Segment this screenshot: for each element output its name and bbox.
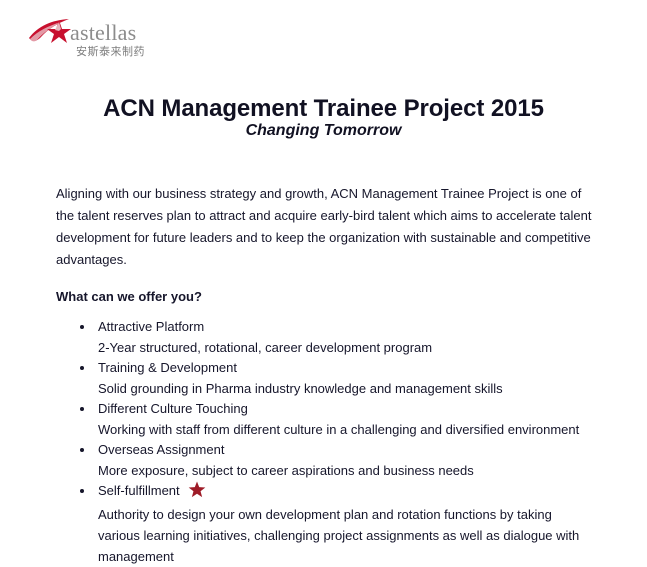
list-item: Different Culture Touching Working with …	[56, 399, 593, 440]
astellas-logo: astellas 安斯泰来制药	[28, 16, 168, 66]
astellas-chinese-name: 安斯泰来制药	[76, 46, 145, 57]
bullet-dot-icon	[80, 489, 84, 493]
offer-list: Attractive Platform 2-Year structured, r…	[56, 317, 593, 567]
offer-description: Authority to design your own development…	[98, 504, 593, 567]
astellas-swoosh-star-icon	[28, 18, 74, 46]
list-item: Training & Development Solid grounding i…	[56, 358, 593, 399]
list-item: Self-fulfillment Authority to design you…	[56, 481, 593, 567]
list-item: Attractive Platform 2-Year structured, r…	[56, 317, 593, 358]
offer-description: Working with staff from different cultur…	[98, 419, 593, 440]
page-subtitle: Changing Tomorrow	[0, 122, 647, 140]
bullet-dot-icon	[80, 448, 84, 452]
bullet-dot-icon	[80, 366, 84, 370]
document-body: Aligning with our business strategy and …	[56, 183, 593, 567]
offer-description: More exposure, subject to career aspirat…	[98, 460, 593, 481]
offer-description: 2-Year structured, rotational, career de…	[98, 337, 593, 358]
offer-heading: Different Culture Touching	[98, 399, 593, 419]
intro-paragraph: Aligning with our business strategy and …	[56, 183, 593, 271]
list-item: Overseas Assignment More exposure, subje…	[56, 440, 593, 481]
offer-heading-row: Self-fulfillment	[98, 481, 593, 504]
offer-heading: Attractive Platform	[98, 317, 593, 337]
bullet-dot-icon	[80, 407, 84, 411]
offer-heading: Overseas Assignment	[98, 440, 593, 460]
bullet-dot-icon	[80, 325, 84, 329]
page-title: ACN Management Trainee Project 2015	[0, 95, 647, 123]
offer-question-heading: What can we offer you?	[56, 286, 593, 308]
offer-heading: Training & Development	[98, 358, 593, 378]
red-star-icon	[188, 481, 206, 504]
offer-heading: Self-fulfillment	[98, 483, 180, 498]
offer-description: Solid grounding in Pharma industry knowl…	[98, 378, 593, 399]
astellas-wordmark: astellas	[70, 22, 136, 44]
